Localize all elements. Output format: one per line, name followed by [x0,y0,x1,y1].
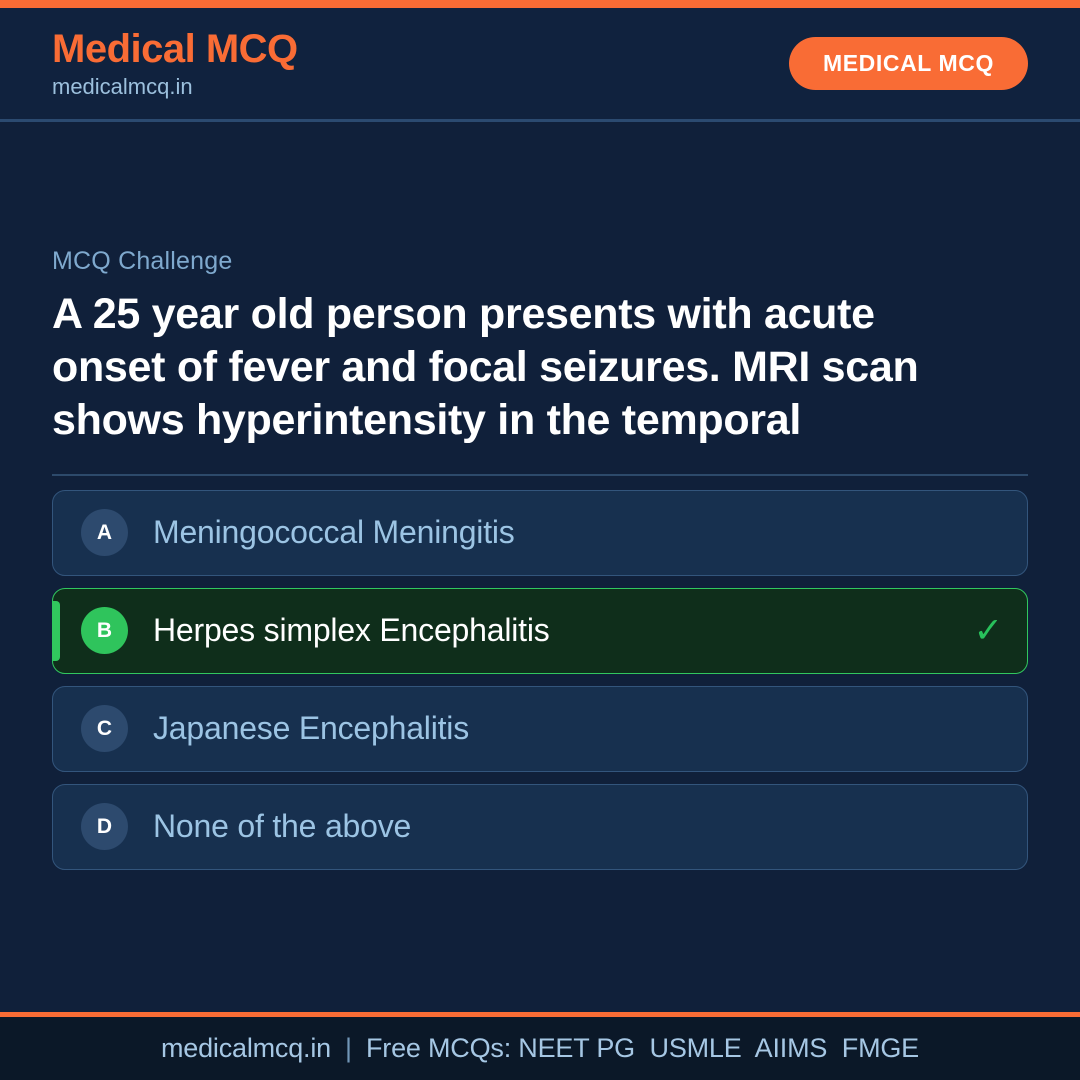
page-header: Medical MCQ medicalmcq.in MEDICAL MCQ [0,8,1080,122]
header-badge: MEDICAL MCQ [789,37,1028,90]
options-list: A Meningococcal Meningitis ✓ B Herpes si… [52,490,1028,870]
option-label: Japanese Encephalitis [153,710,974,747]
option-label: Meningococcal Meningitis [153,514,974,551]
correct-accent-bar [53,601,60,661]
option-letter-badge: C [81,705,128,752]
mcq-poster: Medical MCQ medicalmcq.in MEDICAL MCQ MC… [0,0,1080,1080]
question-divider [52,474,1028,476]
option-label: Herpes simplex Encephalitis [153,612,974,649]
option-letter-badge: A [81,509,128,556]
option-b[interactable]: B Herpes simplex Encephalitis ✓ [52,588,1028,674]
footer-separator: | [331,1033,366,1064]
page-footer: medicalmcq.in | Free MCQs: NEET PG USMLE… [0,1017,1080,1080]
brand-subtitle: medicalmcq.in [52,76,298,98]
option-letter-badge: D [81,803,128,850]
option-letter-badge: B [81,607,128,654]
option-d[interactable]: D None of the above ✓ [52,784,1028,870]
option-a[interactable]: A Meningococcal Meningitis ✓ [52,490,1028,576]
main-content: MCQ Challenge A 25 year old person prese… [0,122,1080,1012]
question-text: A 25 year old person presents with acute… [52,288,982,447]
eyebrow-label: MCQ Challenge [52,122,1028,276]
top-accent-bar [0,0,1080,8]
brand: Medical MCQ medicalmcq.in [52,29,298,98]
footer-site: medicalmcq.in [161,1033,331,1064]
footer-tags: Free MCQs: NEET PG USMLE AIIMS FMGE [366,1033,919,1064]
brand-title: Medical MCQ [52,29,298,69]
option-c[interactable]: C Japanese Encephalitis ✓ [52,686,1028,772]
option-label: None of the above [153,808,974,845]
check-icon: ✓ [974,613,1003,648]
